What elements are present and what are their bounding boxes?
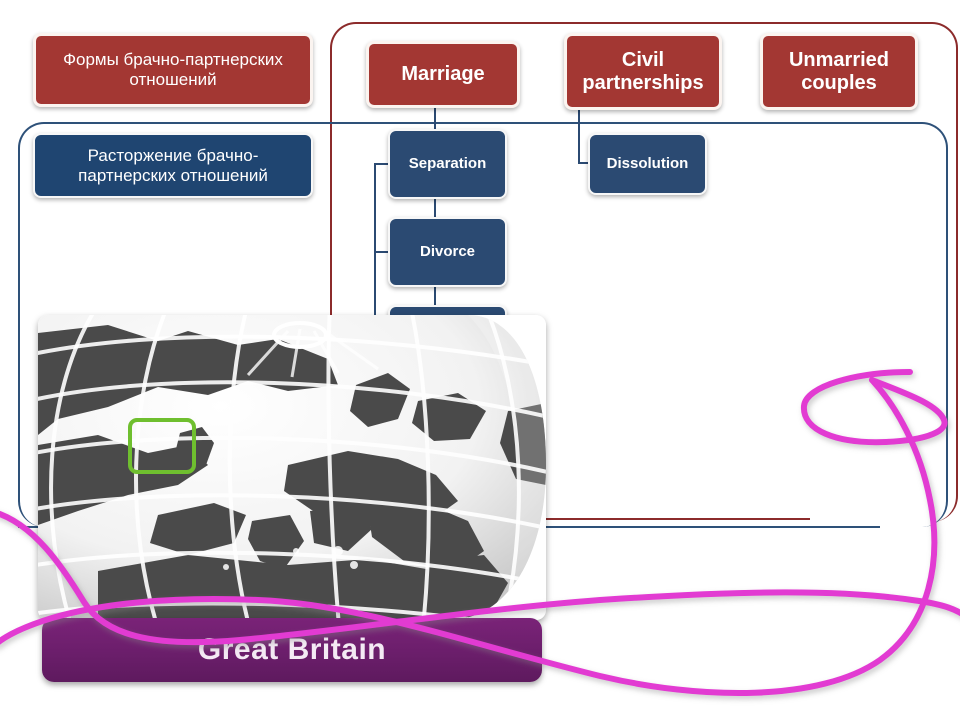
- caption-forms-of-partnership: Формы брачно-партнерских отношений: [33, 33, 313, 107]
- country-banner: Great Britain: [42, 618, 542, 682]
- node-dissolution[interactable]: Dissolution: [588, 133, 707, 195]
- globe-map-image: [38, 315, 546, 620]
- country-banner-label: Great Britain: [198, 633, 386, 667]
- connector-civil-trunk: [578, 108, 580, 164]
- node-unmarried-couples[interactable]: Unmarried couples: [760, 33, 918, 110]
- british-isles-highlight-box: [128, 418, 196, 474]
- node-civil-partnerships[interactable]: Civil partnerships: [564, 33, 722, 110]
- node-marriage[interactable]: Marriage: [366, 41, 520, 108]
- node-divorce[interactable]: Divorce: [388, 217, 507, 287]
- caption-termination-of-partnership: Расторжение брачно-партнерских отношений: [33, 133, 313, 198]
- slide-canvas: Формы брачно-партнерских отношений Расто…: [0, 0, 960, 720]
- node-separation[interactable]: Separation: [388, 129, 507, 199]
